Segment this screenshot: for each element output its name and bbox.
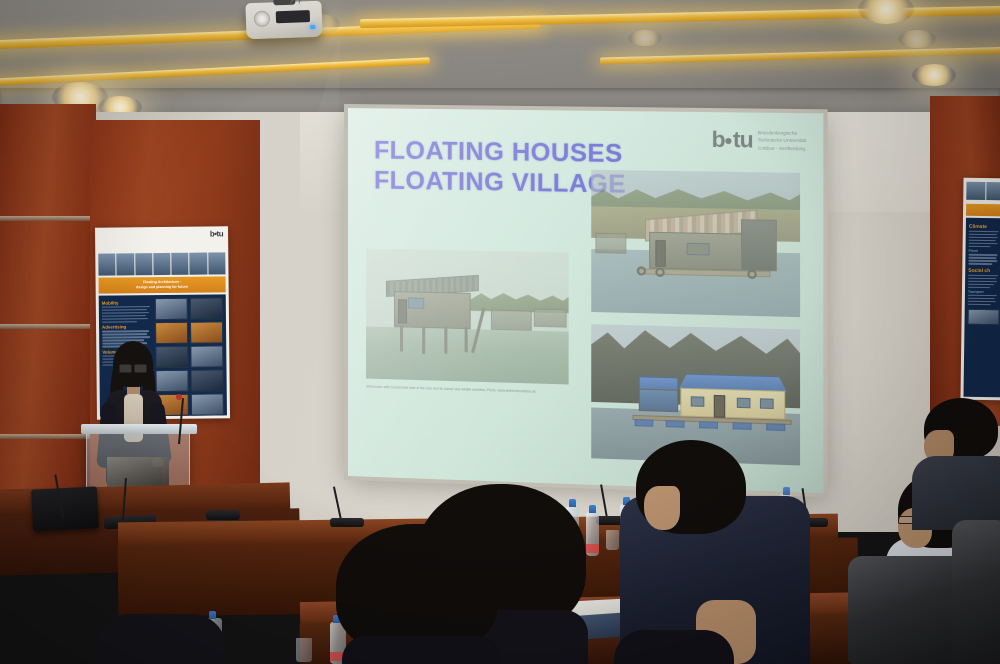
poster-section-heading: Advertising xyxy=(102,324,152,330)
photo-pontoon xyxy=(699,421,718,429)
poster-thumbnail xyxy=(190,369,223,391)
photo-pontoon xyxy=(733,422,752,430)
photo-stilt xyxy=(400,325,403,351)
photo-tire-float xyxy=(747,270,756,279)
projector-port-panel xyxy=(276,10,310,23)
drinking-glass xyxy=(296,638,312,662)
poster-section-heading: Climate xyxy=(969,224,1000,230)
poster-body-text xyxy=(102,306,152,323)
photo-house-far xyxy=(491,310,532,331)
projection-screen: FLOATING HOUSES FLOATING VILLAGE btu Bra… xyxy=(348,108,823,493)
poster-section-heading: Mobility xyxy=(102,300,152,306)
audience-face xyxy=(644,486,680,530)
wood-panel-wall-left xyxy=(0,104,96,534)
wood-trim xyxy=(0,434,96,439)
photo-house-far xyxy=(595,233,626,254)
audience-foreground-silhouette xyxy=(96,614,226,664)
presentation-slide: FLOATING HOUSES FLOATING VILLAGE btu Bra… xyxy=(348,108,823,493)
podium-documents xyxy=(107,457,169,487)
photo-window xyxy=(691,396,705,407)
photo-stilt xyxy=(422,326,425,354)
podium-microphone-head xyxy=(176,394,182,400)
photo-pontoon xyxy=(666,420,685,428)
presenter-monitor xyxy=(31,486,99,531)
slide-photo-floating-village xyxy=(591,170,800,317)
poster-subheading: Flood xyxy=(968,249,1000,253)
wood-trim xyxy=(0,324,96,329)
projector-status-led xyxy=(310,25,315,29)
poster-image-strip xyxy=(966,182,1000,201)
poster-headline-band xyxy=(966,204,1000,217)
conference-room-scene: FLOATING HOUSES FLOATING VILLAGE btu Bra… xyxy=(0,0,1000,664)
slide-photo-caption: Stilt houses with a horizontal view of t… xyxy=(366,385,579,396)
photo-window xyxy=(408,297,424,308)
photo-house-left xyxy=(639,389,678,413)
btu-logo-mark: btu xyxy=(711,126,752,153)
poster-body-text xyxy=(968,254,1000,265)
photo-door xyxy=(398,299,407,323)
poster-climate-social: Climate Flood Social ch Transport xyxy=(960,178,1000,401)
btu-logo-org-text: Brandenburgische Technische Universität … xyxy=(758,129,807,152)
photo-window xyxy=(737,398,751,409)
poster-body-text xyxy=(969,231,1000,248)
poster-body-text xyxy=(968,274,1000,288)
poster-thumbnail xyxy=(190,297,223,319)
ceiling-downlight xyxy=(912,64,956,86)
photo-window xyxy=(687,243,710,256)
ceiling-downlight xyxy=(898,30,936,48)
poster-thumbnail xyxy=(967,309,999,325)
photo-house-far xyxy=(534,309,567,328)
slide-title: FLOATING HOUSES FLOATING VILLAGE xyxy=(374,136,626,199)
slide-photo-stilt-house xyxy=(366,248,569,384)
photo-house-side xyxy=(741,219,777,271)
btu-logo: btu Brandenburgische Technische Universi… xyxy=(711,126,806,154)
photo-pontoon xyxy=(766,423,785,431)
poster-body-text xyxy=(968,295,1000,306)
audience-shirt xyxy=(912,456,1000,530)
photo-door xyxy=(655,240,665,267)
audience-foreground-silhouette xyxy=(614,630,734,664)
eyeglasses-icon xyxy=(119,364,147,371)
audience-shoulders xyxy=(342,636,502,664)
office-chair xyxy=(952,520,1000,664)
projector-lens-icon xyxy=(254,10,271,27)
poster-thumbnail xyxy=(191,393,224,415)
poster-thumbnail xyxy=(190,345,223,367)
photo-tire-float xyxy=(637,266,646,275)
poster-btu-logo: b•tu xyxy=(210,229,223,238)
audience-hair xyxy=(336,524,498,654)
microphone-base xyxy=(206,510,240,520)
photo-window xyxy=(760,398,774,409)
photo-pontoon xyxy=(635,419,654,427)
photo-door xyxy=(714,395,726,418)
audience-front-left xyxy=(336,524,516,664)
wood-trim xyxy=(0,216,96,221)
photo-tire-float xyxy=(655,268,664,277)
poster-image-strip xyxy=(98,252,225,275)
poster-thumbnail xyxy=(154,298,187,320)
poster-headline-band: Floating Architecture - design and plann… xyxy=(99,276,226,293)
poster-headline: Floating Architecture - design and plann… xyxy=(136,280,188,290)
audience-right-back xyxy=(910,398,1000,528)
photo-stilt xyxy=(465,327,468,352)
poster-body: Climate Flood Social ch Transport xyxy=(963,218,1000,398)
poster-subheading: Transport xyxy=(968,290,1000,294)
ceiling-downlight xyxy=(628,30,662,46)
poster-section-heading: Social ch xyxy=(968,267,1000,273)
photo-stilt xyxy=(444,326,447,353)
poster-thumbnail xyxy=(190,321,223,343)
